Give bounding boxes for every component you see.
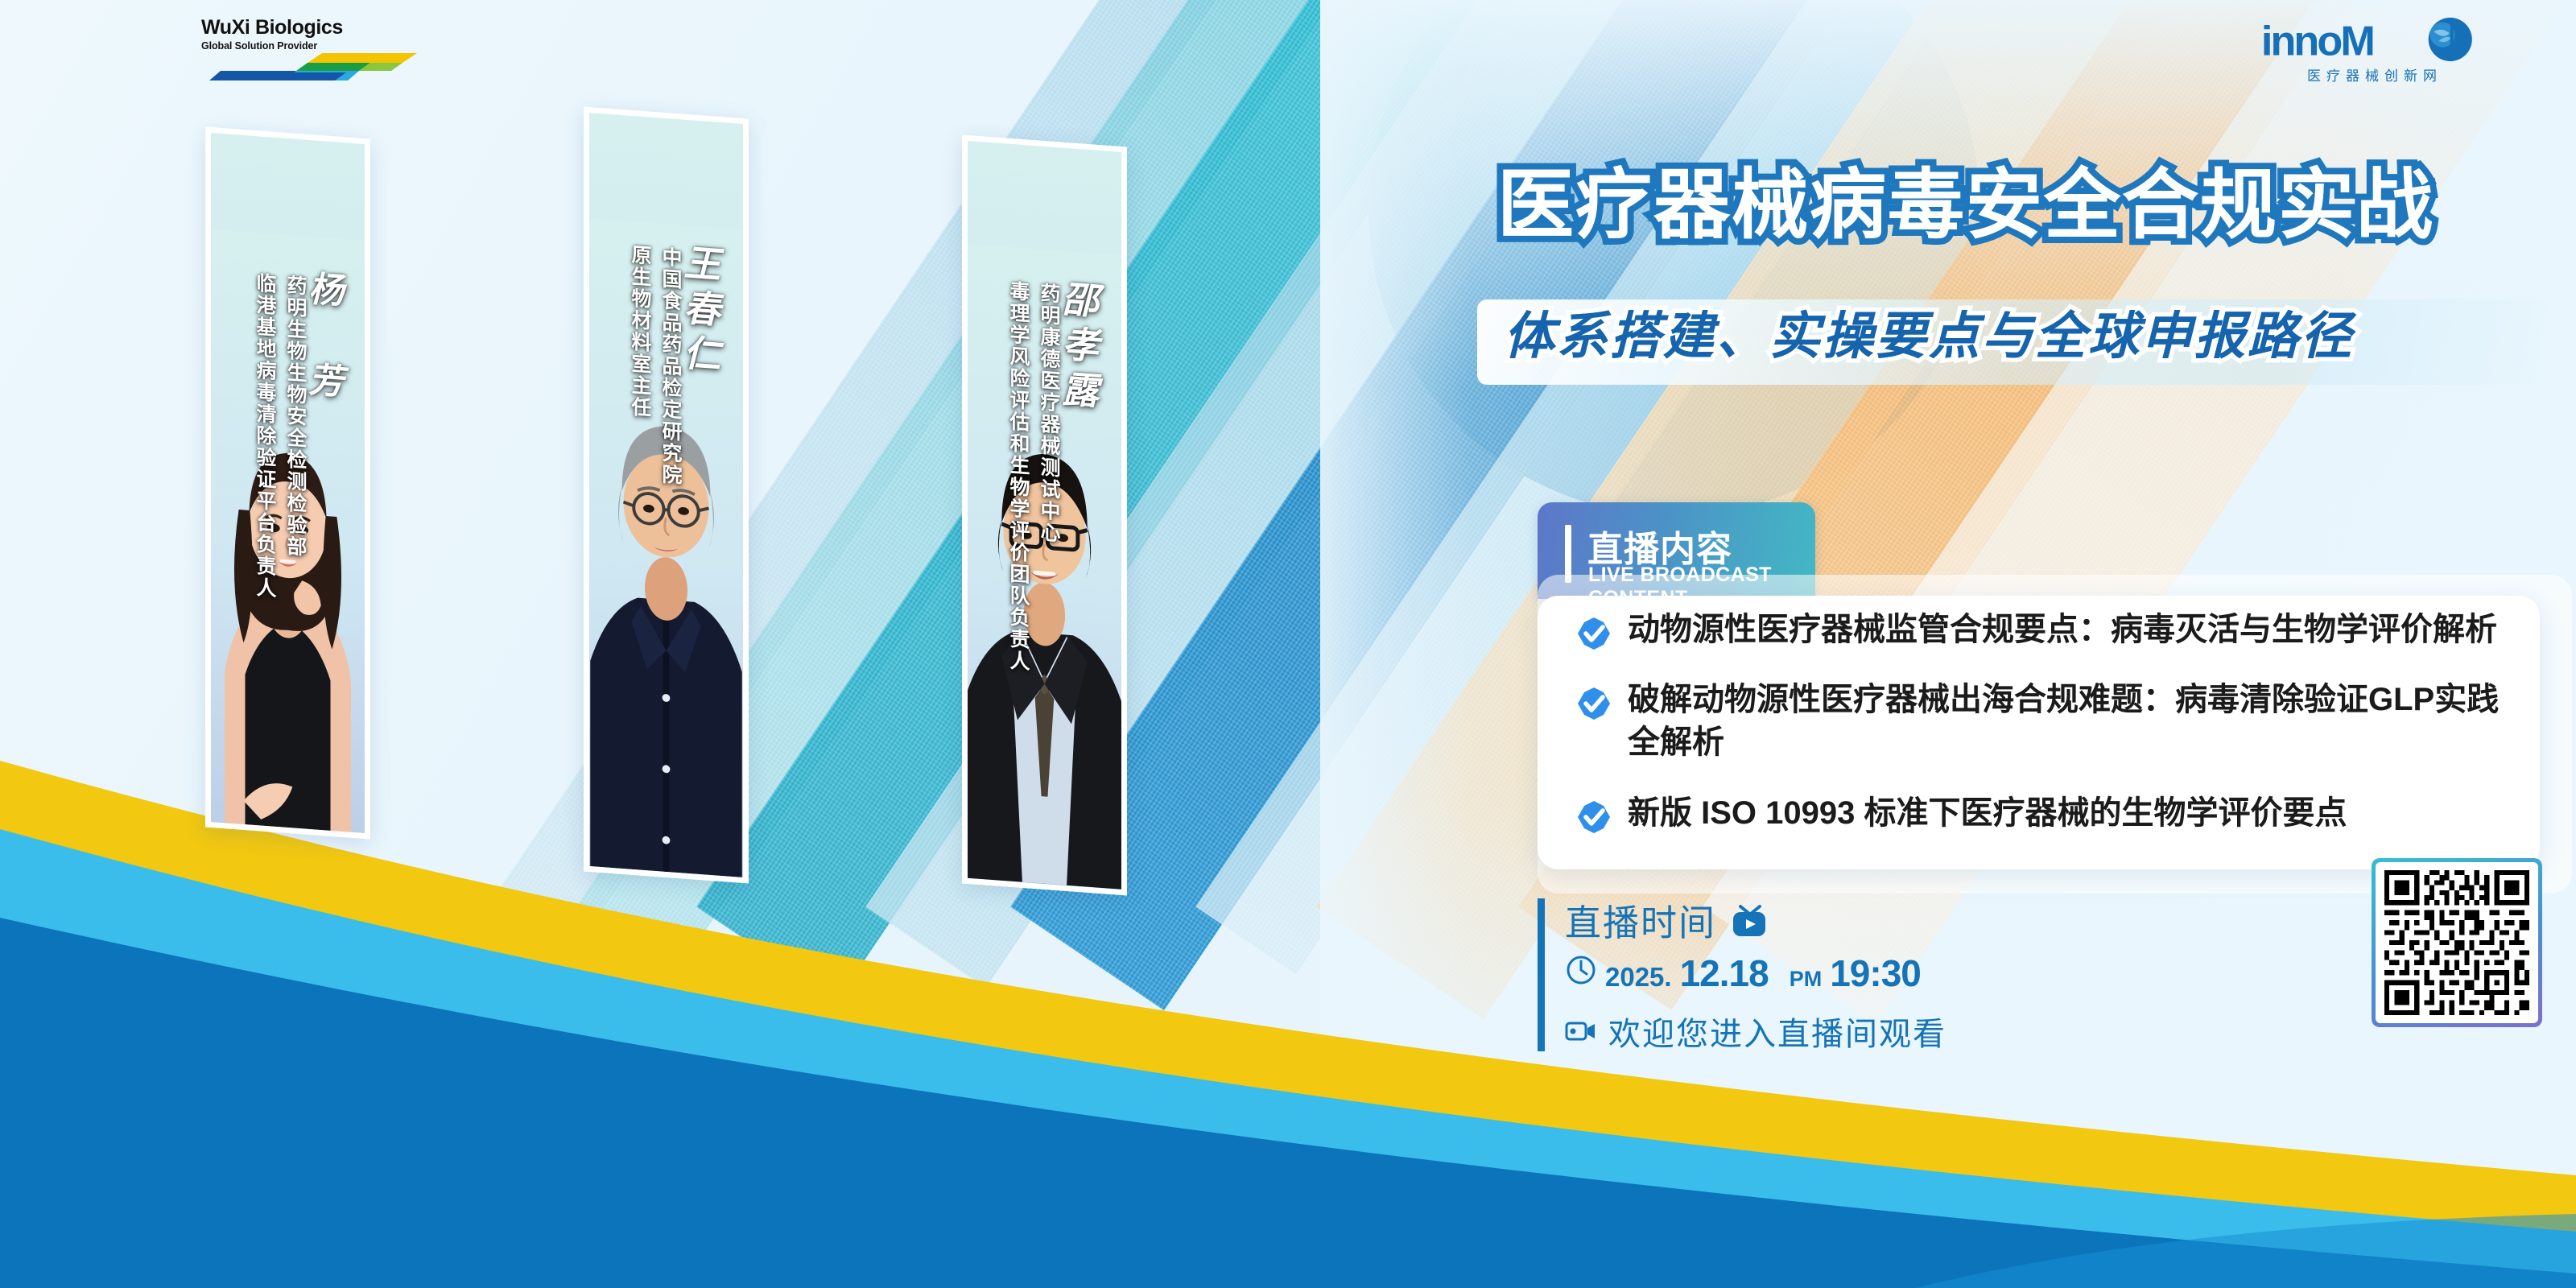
list-item: 破解动物源性医疗器械出海合规难题：病毒清除验证GLP实践全解析 xyxy=(1570,679,2520,764)
speaker-card-3: 邵孝露 药明康德医疗器械测试中心 毒理学风险评估和生物学评价团队负责人 xyxy=(962,134,1127,895)
webinar-poster: WuXi Biologics Global Solution Provider … xyxy=(0,0,2576,1288)
speaker-role-2: 原生物材料室主任 xyxy=(629,244,651,419)
speaker-photo-frame-2 xyxy=(584,106,749,883)
tv-play-icon xyxy=(1728,898,1771,942)
speaker-org-3: 药明康德医疗器械测试中心 xyxy=(1038,282,1060,544)
poster-subtitle: 体系搭建、实操要点与全球申报路径 xyxy=(1504,309,2566,365)
live-note: 欢迎您进入直播间观看 xyxy=(1608,1008,1946,1055)
list-item-text: 破解动物源性医疗器械出海合规难题：病毒清除验证GLP实践全解析 xyxy=(1628,679,2520,764)
list-item: 新版 ISO 10993 标准下医疗器械的生物学评价要点 xyxy=(1570,792,2520,835)
live-meridiem: PM xyxy=(1790,967,1823,992)
speaker-org-2: 中国食品药品检定研究院 xyxy=(659,246,682,486)
right-content-column: 医疗器械病毒安全合规实战 医疗器械病毒安全合规实战 体系搭建、实操要点与全球申报… xyxy=(1417,0,2576,1288)
live-note-row: 欢迎您进入直播间观看 xyxy=(1565,1008,1946,1055)
list-item: 动物源性医疗器械监管合规要点：病毒灭活与生物学评价解析 xyxy=(1570,609,2520,651)
check-badge-icon xyxy=(1576,799,1612,835)
live-time-heading-row: 直播时间 xyxy=(1565,894,1771,946)
live-date: 12.18 xyxy=(1680,952,1769,995)
speaker-org-1: 药明生物生物安全检测检验部 xyxy=(284,275,307,559)
live-time-label: 直播时间 xyxy=(1565,894,1716,946)
qr-code-icon xyxy=(2384,870,2530,1015)
clock-icon xyxy=(1565,954,1597,986)
speaker-role-1: 临港基地病毒清除验证平台负责人 xyxy=(254,272,276,600)
speaker-card-2: 王春仁 中国食品药品检定研究院 原生物材料室主任 xyxy=(584,106,749,883)
qr-code-inner xyxy=(2376,862,2538,1023)
list-item-text: 新版 ISO 10993 标准下医疗器械的生物学评价要点 xyxy=(1628,792,2520,835)
qr-code-container[interactable] xyxy=(2372,858,2542,1027)
check-badge-icon xyxy=(1576,686,1612,721)
live-date-prefix: 2025. xyxy=(1605,962,1672,993)
live-time-accent-bar xyxy=(1538,898,1545,1051)
speaker-role-3: 毒理学风险评估和生物学评价团队负责人 xyxy=(1007,280,1030,673)
speaker-card-1: 杨 芳 药明生物生物安全检测检验部 临港基地病毒清除验证平台负责人 xyxy=(205,126,370,839)
speakers-group: 杨 芳 药明生物生物安全检测检验部 临港基地病毒清除验证平台负责人 xyxy=(0,0,1368,966)
live-datetime-row: 2025. 12.18 PM 19:30 xyxy=(1565,952,1921,995)
live-time-value: 19:30 xyxy=(1830,952,1921,995)
poster-title: 医疗器械病毒安全合规实战 xyxy=(1497,165,2544,246)
check-badge-icon xyxy=(1576,616,1612,651)
list-item-text: 动物源性医疗器械监管合规要点：病毒灭活与生物学评价解析 xyxy=(1628,609,2520,651)
agenda-list: 动物源性医疗器械监管合规要点：病毒灭活与生物学评价解析 破解动物源性医疗器械出海… xyxy=(1570,609,2520,835)
video-camera-icon xyxy=(1565,1018,1597,1045)
